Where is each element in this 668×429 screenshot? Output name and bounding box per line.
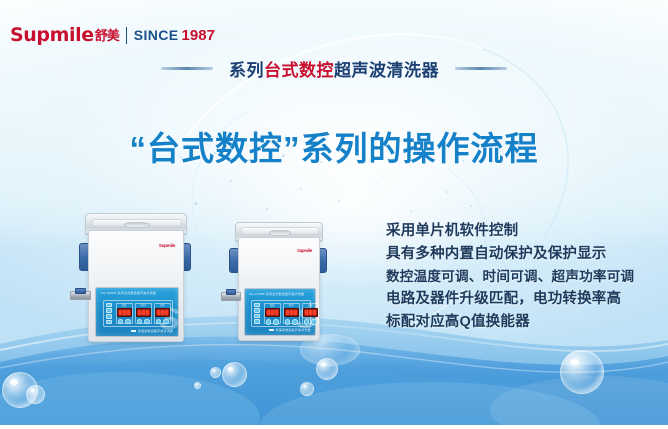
increment-button[interactable] [125, 319, 131, 325]
background-dot [194, 202, 197, 205]
function-button-1[interactable] [254, 303, 260, 307]
led-digit [161, 310, 164, 315]
display-time-buttons[interactable] [285, 319, 298, 325]
panel-footer-tick [269, 329, 274, 331]
product-brandmark: Supmile [159, 244, 175, 249]
slide-canvas: Supmile 舒美 SINCE 1987 系列台式数控超声波清洗器 “台式数控… [0, 0, 668, 429]
control-cluster[interactable]: 温度 时间 [103, 300, 174, 328]
function-button-3[interactable] [254, 314, 260, 318]
led-digit [305, 310, 308, 315]
subtitle-highlight: 台式数控 [264, 61, 334, 80]
lid-handle[interactable] [124, 222, 150, 228]
display-temperature-buttons[interactable] [266, 319, 279, 325]
brand-name-en: Supmile [10, 26, 94, 45]
feature-item: 标配对应高Q值换能器 [386, 315, 664, 330]
panel-model-label: SQ-2200B 系列台式数控超声波清洗器 [249, 292, 304, 296]
feature-item: 具有多种内置自动保护及保护显示 [386, 247, 664, 262]
led-digit [142, 310, 145, 315]
led-digit [127, 310, 130, 315]
led-digit [271, 310, 274, 315]
led-digit [313, 310, 316, 315]
feature-item: 电路及器件升级匹配，电功转换率高 [386, 292, 664, 307]
unit-body: Supmile SQ-2200B 系列台式数控超声波清洗器 S 温度 [238, 237, 320, 341]
background-dot [446, 191, 448, 193]
function-button-column[interactable] [252, 301, 262, 326]
background-dot [470, 205, 472, 207]
decrement-button[interactable] [266, 319, 272, 325]
function-button-3[interactable] [106, 314, 112, 319]
panel-footer-label: 舒美牌数控超声波清洗器 [131, 329, 173, 333]
drain-valve-knob[interactable] [226, 289, 236, 295]
display-temperature-buttons[interactable] [118, 319, 131, 325]
subtitle-text: 系列台式数控超声波清洗器 [229, 56, 439, 81]
product-brandmark: Supmile [297, 249, 312, 253]
display-time-led [136, 308, 151, 317]
product-large-unit[interactable]: Supmile SQ-5200B 系列台式数控超声波清洗器 S 温度 [84, 213, 186, 341]
display-segment-group: 温度 时间 [114, 301, 173, 327]
display-temperature-label: 温度 [270, 305, 275, 307]
feature-item: 采用单片机软件控制 [386, 224, 664, 239]
display-power-led [155, 308, 170, 317]
led-digit [309, 310, 312, 315]
decrement-button[interactable] [285, 319, 291, 325]
led-digit [294, 310, 297, 315]
logo-divider [126, 27, 127, 44]
display-time-led [284, 308, 299, 317]
display-temperature[interactable]: 温度 [116, 303, 133, 325]
decrement-button[interactable] [156, 319, 162, 325]
drain-valve-knob[interactable] [75, 288, 86, 294]
panel-footer-text: 舒美牌数控超声波清洗器 [276, 328, 311, 332]
brand-since-label: SINCE [134, 28, 179, 42]
display-power-buttons[interactable] [156, 319, 169, 325]
background-dot [338, 200, 340, 202]
increment-button[interactable] [273, 319, 279, 325]
brand-logo: Supmile 舒美 SINCE 1987 [10, 24, 215, 46]
display-time-label: 时间 [289, 305, 294, 307]
bottom-white-strip [0, 425, 668, 429]
led-digit [286, 310, 289, 315]
bubble-2 [26, 385, 45, 404]
display-time[interactable]: 时间 [135, 303, 152, 325]
display-time[interactable]: 时间 [283, 303, 300, 324]
display-power-label: 功率 [160, 305, 165, 307]
increment-button[interactable] [144, 319, 150, 325]
lid-handle[interactable] [269, 230, 292, 236]
panel-footer-text: 舒美牌数控超声波清洗器 [138, 329, 173, 333]
subtitle-tail: 超声波清洗器 [334, 61, 439, 80]
background-dot [375, 183, 377, 185]
panel-footer-label: 舒美牌数控超声波清洗器 [269, 328, 311, 332]
decrement-button[interactable] [304, 319, 310, 325]
display-time-label: 时间 [141, 305, 146, 307]
bubble-3 [222, 362, 247, 387]
subtitle-rule-right [455, 67, 507, 70]
page-title: “台式数控”系列的操作流程 [0, 122, 668, 170]
unit-body: Supmile SQ-5200B 系列台式数控超声波清洗器 S 温度 [88, 230, 184, 342]
control-panel[interactable]: SQ-5200B 系列台式数控超声波清洗器 S 温度 [95, 287, 179, 337]
function-button-4[interactable] [254, 319, 260, 323]
display-time-buttons[interactable] [137, 319, 150, 325]
led-digit [146, 310, 149, 315]
background-dot [266, 208, 268, 210]
increment-button[interactable] [163, 319, 169, 325]
increment-button[interactable] [311, 319, 317, 325]
panel-footer-tick [131, 330, 136, 332]
subtitle-lead: 系列 [229, 61, 264, 80]
led-digit [157, 310, 160, 315]
feature-item: 数控温度可调、时间可调、超声功率可调 [386, 270, 664, 284]
display-segment-group: 温度 时间 [262, 301, 321, 326]
display-temperature-led [117, 308, 132, 317]
function-button-column[interactable] [104, 301, 114, 327]
bubble-4 [210, 367, 221, 378]
product-small-unit[interactable]: Supmile SQ-2200B 系列台式数控超声波清洗器 S 温度 [234, 222, 322, 340]
subtitle-bar: 系列台式数控超声波清洗器 [0, 56, 668, 81]
led-digit [275, 310, 278, 315]
function-button-1[interactable] [106, 303, 112, 308]
bubble-7 [300, 382, 314, 396]
led-digit [165, 310, 168, 315]
led-digit [267, 310, 270, 315]
panel-model-label: SQ-5200B 系列台式数控超声波清洗器 [101, 291, 156, 295]
function-button-2[interactable] [106, 308, 112, 313]
drain-valve[interactable] [221, 292, 241, 301]
background-dot [410, 210, 412, 212]
bubble-5 [194, 382, 201, 389]
display-power[interactable]: 功率 [302, 303, 319, 324]
bubble-8 [560, 350, 604, 394]
display-temperature-led [265, 308, 280, 317]
decrement-button[interactable] [137, 319, 143, 325]
function-button-2[interactable] [254, 308, 260, 312]
led-digit [290, 310, 293, 315]
brand-name-cn: 舒美 [95, 29, 119, 42]
decrement-button[interactable] [118, 319, 124, 325]
feature-list: 采用单片机软件控制 具有多种内置自动保护及保护显示 数控温度可调、时间可调、超声… [386, 224, 664, 338]
increment-button[interactable] [292, 319, 298, 325]
display-temperature[interactable]: 温度 [264, 303, 281, 324]
display-power[interactable]: 功率 [154, 303, 171, 325]
control-cluster[interactable]: 温度 时间 [251, 300, 312, 327]
brand-since-year: 1987 [182, 28, 215, 43]
function-button-4[interactable] [106, 320, 112, 325]
display-power-led [303, 308, 318, 317]
background-dot [230, 180, 232, 182]
display-temperature-label: 温度 [122, 305, 127, 307]
subtitle-rule-left [161, 67, 213, 70]
led-digit [123, 310, 126, 315]
display-power-label: 功率 [308, 305, 313, 307]
led-digit [119, 310, 122, 315]
led-digit [138, 310, 141, 315]
drain-valve[interactable] [70, 291, 91, 300]
display-power-buttons[interactable] [304, 319, 317, 325]
background-dot [300, 188, 302, 190]
control-panel[interactable]: SQ-2200B 系列台式数控超声波清洗器 S 温度 [244, 288, 316, 336]
